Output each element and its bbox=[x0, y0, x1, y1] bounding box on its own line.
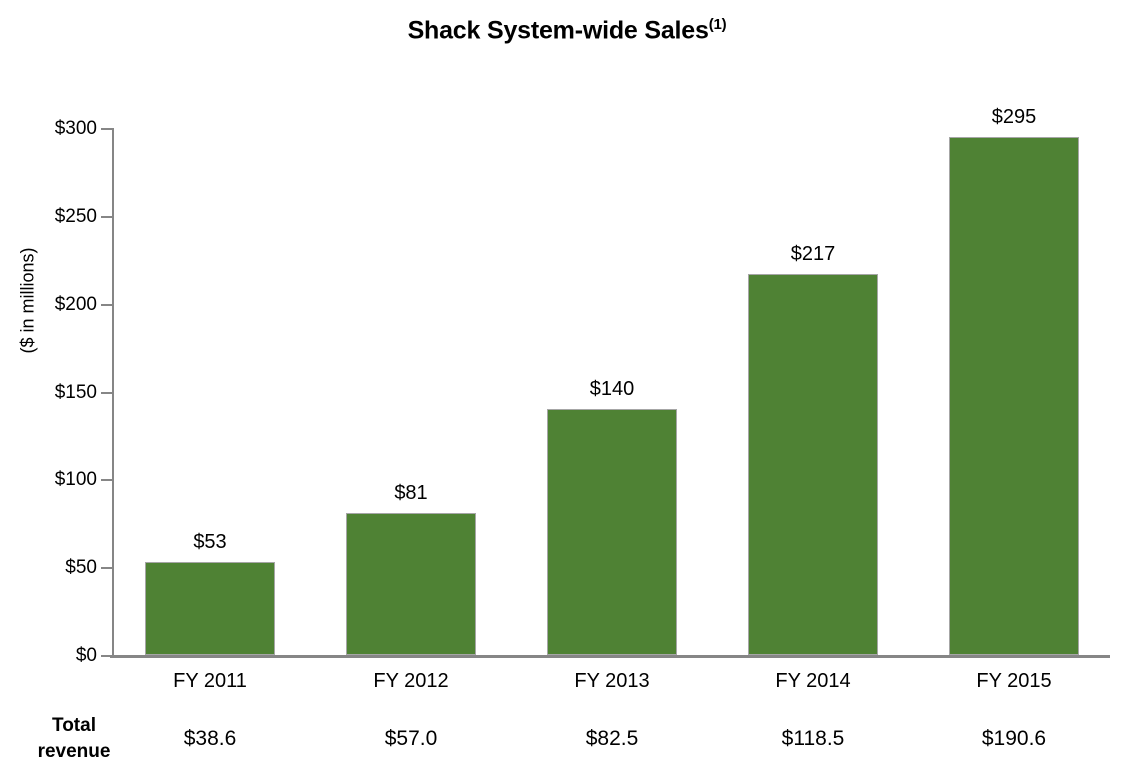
x-axis-category-label: FY 2011 bbox=[145, 670, 275, 692]
total-revenue-value: $57.0 bbox=[346, 727, 476, 751]
chart-title-footnote-marker: (1) bbox=[709, 16, 727, 33]
total-revenue-value: $82.5 bbox=[547, 727, 677, 751]
bar-value-label: $53 bbox=[145, 532, 275, 552]
x-axis-line bbox=[110, 655, 1110, 658]
bar-value-label: $217 bbox=[748, 244, 878, 264]
bar-value-label: $81 bbox=[346, 483, 476, 503]
y-axis-tick-label: $150 bbox=[7, 383, 97, 402]
y-axis-tick-label: $0 bbox=[7, 646, 97, 665]
total-revenue-value: $190.6 bbox=[949, 727, 1079, 751]
x-axis-category-label: FY 2014 bbox=[748, 670, 878, 692]
bar[interactable] bbox=[949, 137, 1079, 655]
total-revenue-label-line1: Total bbox=[18, 713, 130, 739]
y-axis-tick-label: $50 bbox=[7, 558, 97, 577]
page-title: Shack System-wide Sales(1) bbox=[0, 16, 1134, 45]
total-revenue-value: $38.6 bbox=[145, 727, 275, 751]
y-axis-line bbox=[112, 128, 114, 655]
x-axis-category-label: FY 2012 bbox=[346, 670, 476, 692]
bar-value-label: $295 bbox=[949, 107, 1079, 127]
y-axis-tick bbox=[101, 479, 112, 481]
y-axis-tick bbox=[101, 567, 112, 569]
total-revenue-label-line2: revenue bbox=[18, 739, 130, 765]
y-axis-tick bbox=[101, 128, 112, 130]
y-axis-tick-label: $200 bbox=[7, 295, 97, 314]
x-axis-category-label: FY 2013 bbox=[547, 670, 677, 692]
bar[interactable] bbox=[547, 409, 677, 655]
y-axis-tick-label: $100 bbox=[7, 470, 97, 489]
bar-value-label: $140 bbox=[547, 379, 677, 399]
bar[interactable] bbox=[346, 513, 476, 655]
bar[interactable] bbox=[748, 274, 878, 655]
y-axis-tick bbox=[101, 392, 112, 394]
plot-area: $300$250$200$150$100$50$0 $53$81$140$217… bbox=[112, 128, 1110, 655]
chart-title-text: Shack System-wide Sales bbox=[408, 16, 709, 44]
y-axis-tick-label: $300 bbox=[7, 119, 97, 138]
y-axis-tick bbox=[101, 216, 112, 218]
bar[interactable] bbox=[145, 562, 275, 655]
y-axis-tick-label: $250 bbox=[7, 207, 97, 226]
total-revenue-row-label: Total revenue bbox=[18, 713, 130, 765]
y-axis-tick bbox=[101, 655, 112, 657]
y-axis-tick bbox=[101, 304, 112, 306]
x-axis-category-label: FY 2015 bbox=[949, 670, 1079, 692]
total-revenue-value: $118.5 bbox=[748, 727, 878, 751]
